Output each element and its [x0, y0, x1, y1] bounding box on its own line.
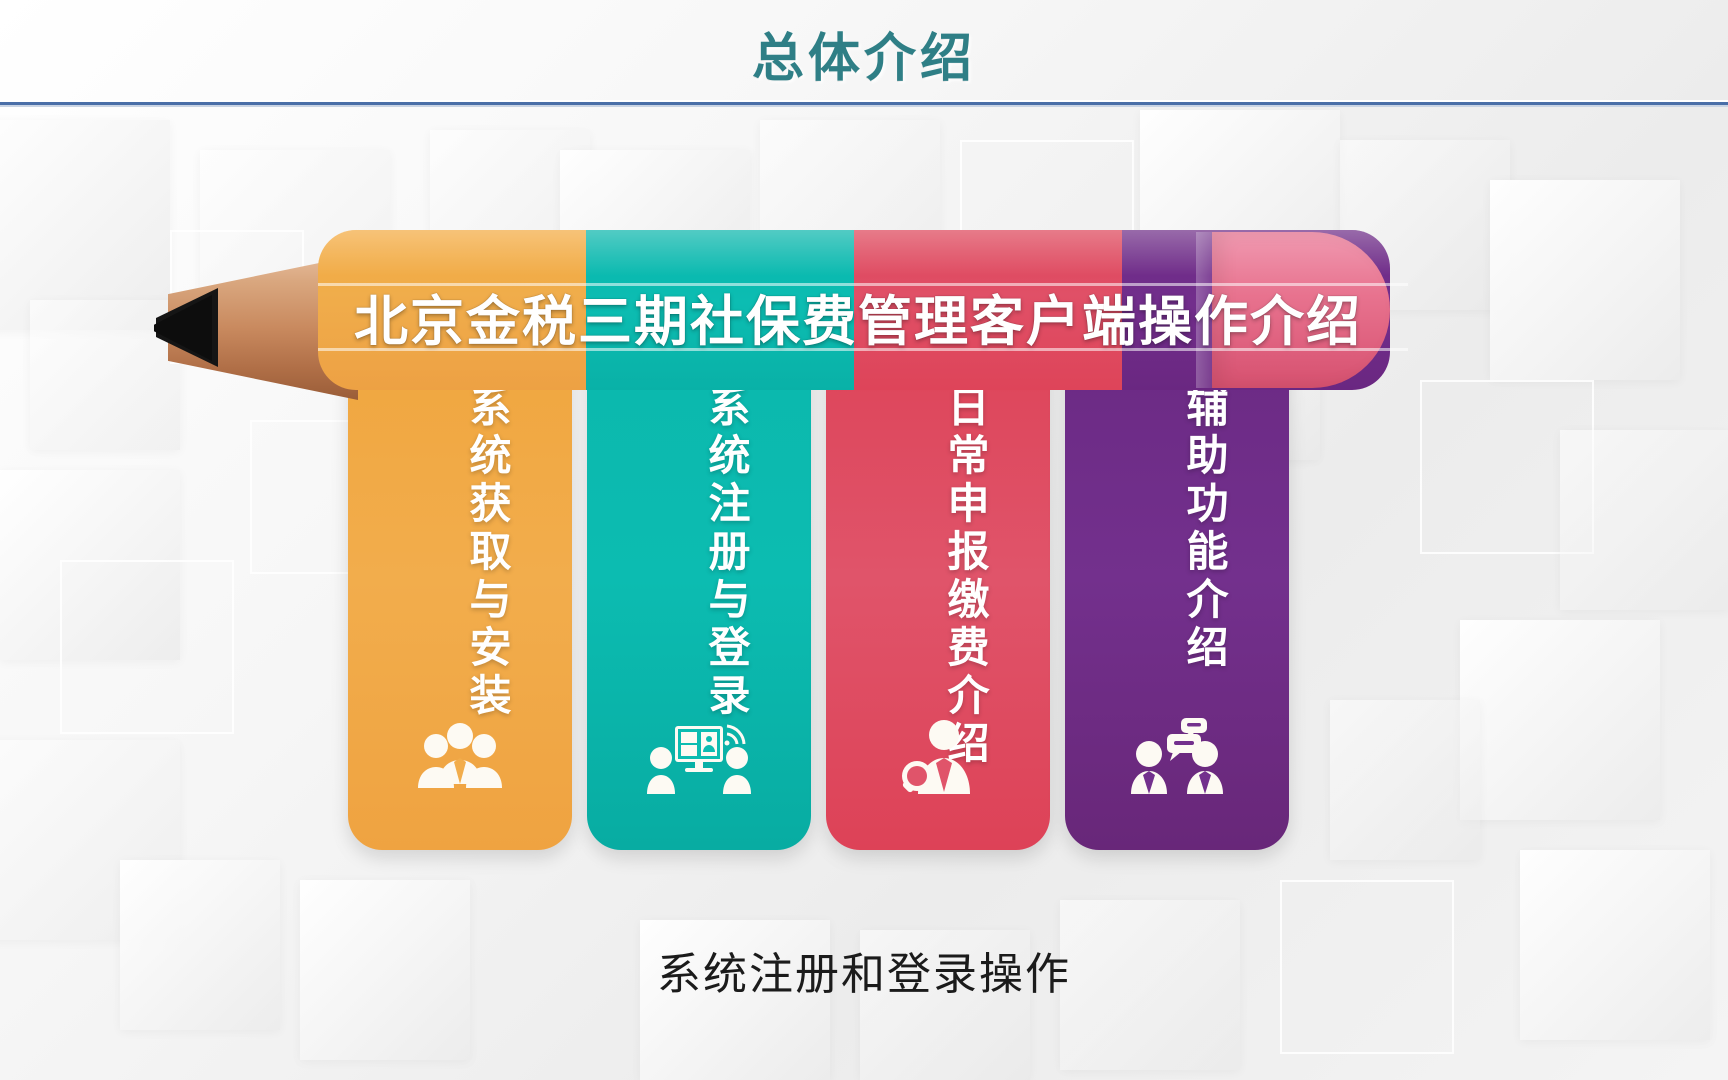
- banner-title: 北京金税三期社保费管理客户端操作介绍: [318, 277, 1398, 355]
- slide-caption: 系统注册和登录操作: [0, 938, 1728, 1002]
- two-people-chat-bubbles-icon: [1065, 716, 1289, 796]
- group-of-three-people-icon: [348, 722, 572, 796]
- person-with-magnifier-icon: [826, 718, 1050, 796]
- header-divider: [0, 100, 1728, 107]
- page-title: 总体介绍: [0, 16, 1728, 91]
- two-people-with-screen-wifi-icon: [587, 718, 811, 796]
- slide-header: 总体介绍: [0, 0, 1728, 104]
- presentation-slide: 总体介绍 系统获取与安装 系统注册与登录: [0, 0, 1728, 1080]
